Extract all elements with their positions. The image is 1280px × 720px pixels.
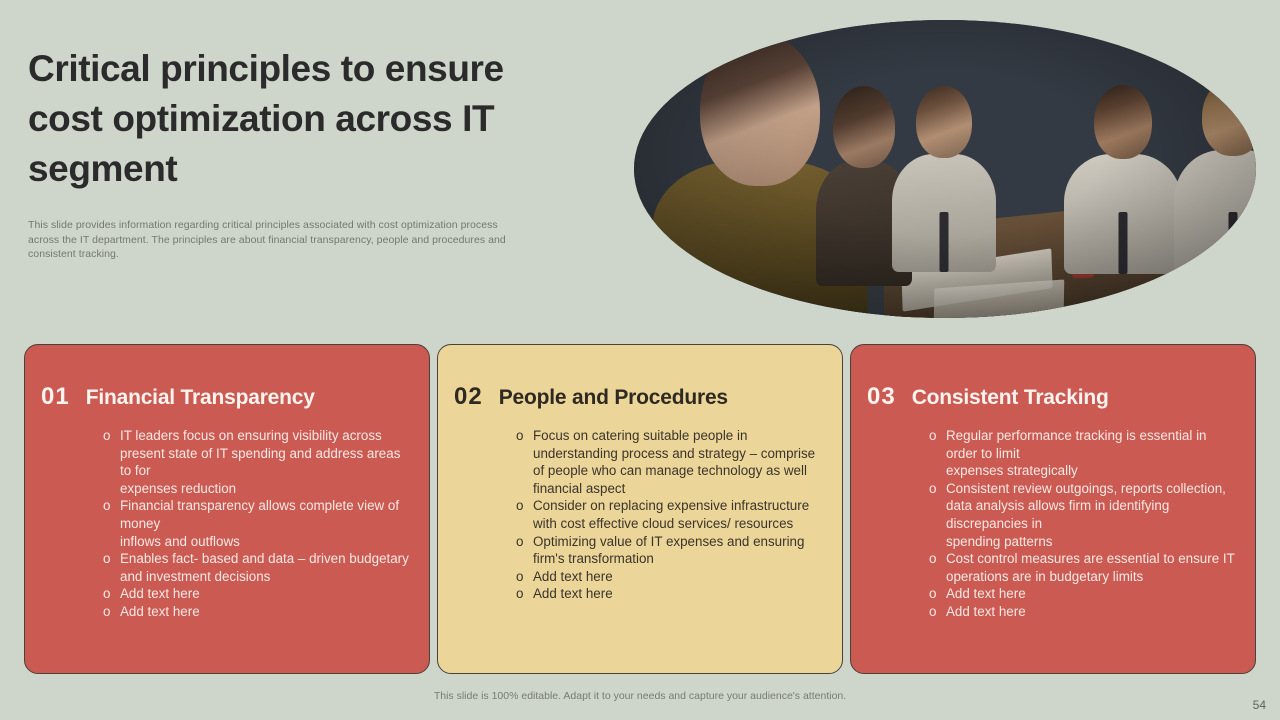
card-number: 01 [41, 385, 70, 409]
header-block: Critical principles to ensure cost optim… [28, 44, 588, 262]
bullet-text: Regular performance tracking is essentia… [946, 428, 1207, 478]
bullet-item: oFinancial transparency allows complete … [103, 497, 411, 550]
card-title: Consistent Tracking [912, 387, 1109, 409]
necktie [1229, 212, 1238, 276]
bullet-text: Add text here [946, 586, 1026, 601]
person-body [1174, 150, 1256, 276]
bullet-text: Optimizing value of IT expenses and ensu… [533, 534, 804, 567]
necktie [1119, 212, 1128, 274]
bullet-marker-icon: o [929, 427, 936, 445]
card-financial-transparency[interactable]: 01 Financial Transparency oIT leaders fo… [24, 344, 430, 674]
bullet-text: Consider on replacing expensive infrastr… [533, 498, 809, 531]
bullet-item: oAdd text here [516, 568, 824, 586]
bullet-item: oFocus on catering suitable people in un… [516, 427, 824, 497]
person-head [1202, 78, 1256, 156]
page-number: 54 [1253, 698, 1266, 712]
bullet-text: Add text here [120, 586, 200, 601]
page-title: Critical principles to ensure cost optim… [28, 44, 558, 194]
card-bullet-list: oIT leaders focus on ensuring visibility… [41, 427, 411, 621]
principles-card-row: 01 Financial Transparency oIT leaders fo… [24, 344, 1256, 674]
card-title: Financial Transparency [86, 387, 315, 409]
bullet-marker-icon: o [516, 568, 523, 586]
card-number: 03 [867, 385, 896, 409]
bullet-item: oAdd text here [103, 603, 411, 621]
bullet-text: Add text here [946, 604, 1026, 619]
bullet-item: oAdd text here [929, 585, 1237, 603]
bullet-item: oRegular performance tracking is essenti… [929, 427, 1237, 480]
bullet-text: Add text here [120, 604, 200, 619]
bullet-marker-icon: o [516, 497, 523, 515]
card-header: 01 Financial Transparency [41, 385, 411, 409]
bullet-text: Consistent review outgoings, reports col… [946, 481, 1226, 549]
card-bullet-list: oRegular performance tracking is essenti… [867, 427, 1237, 621]
bullet-marker-icon: o [516, 427, 523, 445]
necktie [940, 212, 949, 272]
card-header: 02 People and Procedures [454, 385, 824, 409]
bullet-text: Focus on catering suitable people in und… [533, 428, 815, 496]
bullet-text: Enables fact- based and data – driven bu… [120, 551, 409, 584]
person-head [916, 86, 972, 158]
bullet-marker-icon: o [103, 603, 110, 621]
bullet-marker-icon: o [103, 585, 110, 603]
bullet-text: Add text here [533, 586, 613, 601]
bullet-item: oAdd text here [929, 603, 1237, 621]
bullet-text: Cost control measures are essential to e… [946, 551, 1235, 584]
card-header: 03 Consistent Tracking [867, 385, 1237, 409]
bullet-item: oConsider on replacing expensive infrast… [516, 497, 824, 532]
bullet-marker-icon: o [929, 550, 936, 568]
bullet-item: oCost control measures are essential to … [929, 550, 1237, 585]
card-consistent-tracking[interactable]: 03 Consistent Tracking oRegular performa… [850, 344, 1256, 674]
card-people-and-procedures[interactable]: 02 People and Procedures oFocus on cater… [437, 344, 843, 674]
person-head [700, 34, 820, 186]
bullet-item: oAdd text here [103, 585, 411, 603]
bullet-marker-icon: o [103, 550, 110, 568]
bullet-item: oIT leaders focus on ensuring visibility… [103, 427, 411, 497]
bullet-text: Financial transparency allows complete v… [120, 498, 399, 548]
person-fifth [1174, 76, 1256, 276]
bullet-marker-icon: o [929, 585, 936, 603]
bullet-marker-icon: o [516, 585, 523, 603]
card-bullet-list: oFocus on catering suitable people in un… [454, 427, 824, 603]
person-head [833, 86, 895, 168]
bullet-item: oOptimizing value of IT expenses and ens… [516, 533, 824, 568]
editable-note: This slide is 100% editable. Adapt it to… [0, 690, 1280, 702]
slide-subtitle: This slide provides information regardin… [28, 218, 528, 262]
bullet-item: oAdd text here [516, 585, 824, 603]
bullet-text: IT leaders focus on ensuring visibility … [120, 428, 400, 496]
person-head [1094, 85, 1152, 159]
bullet-text: Add text here [533, 569, 613, 584]
card-title: People and Procedures [499, 387, 728, 409]
bullet-item: oEnables fact- based and data – driven b… [103, 550, 411, 585]
bullet-marker-icon: o [103, 497, 110, 515]
bullet-marker-icon: o [929, 603, 936, 621]
bullet-marker-icon: o [516, 533, 523, 551]
slide-canvas: Critical principles to ensure cost optim… [0, 0, 1280, 720]
bullet-marker-icon: o [929, 480, 936, 498]
person-third [892, 82, 996, 272]
hero-image [634, 20, 1256, 318]
bullet-item: oConsistent review outgoings, reports co… [929, 480, 1237, 550]
bullet-marker-icon: o [103, 427, 110, 445]
card-number: 02 [454, 385, 483, 409]
person-fourth [1064, 79, 1182, 274]
